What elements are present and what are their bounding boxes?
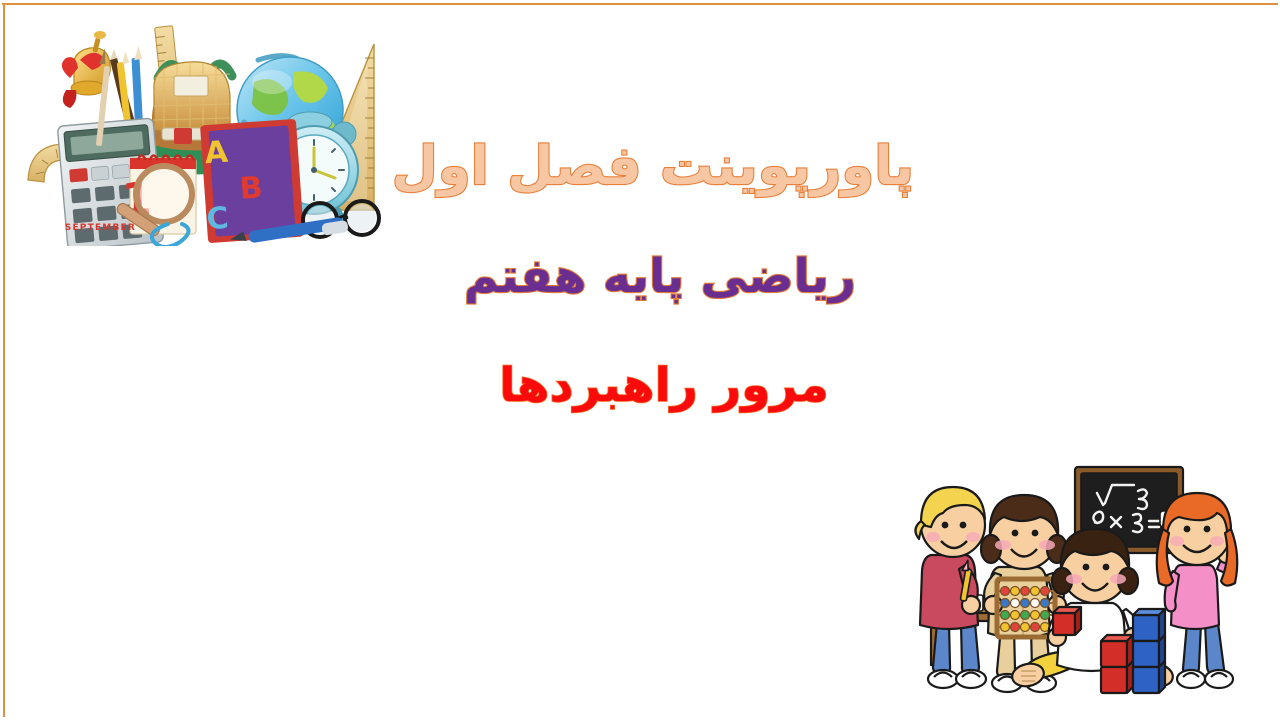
school-supplies-clipart: A B C (22, 18, 392, 246)
abc-book-icon: A B C (200, 119, 304, 243)
page-title-line-2: ریاضی پایه هفتم (400, 253, 920, 300)
child-boy-blond (915, 487, 986, 688)
slide-border-top (2, 3, 1278, 5)
page-title-line-3: مرور راهبردها (400, 362, 928, 409)
red-block-icon (1053, 607, 1081, 635)
child-girl-orange-hair (1157, 493, 1238, 688)
calendar-month: SEPTEMBER (65, 223, 136, 233)
slide-title-block: پاورپوینت فصل اول ریاضی پایه هفتم مرور ر… (400, 140, 920, 409)
svg-text:B: B (238, 170, 263, 207)
svg-text:C: C (205, 201, 229, 237)
classroom-kids-clipart (905, 445, 1260, 700)
page-title-line-1: پاورپوینت فصل اول (400, 140, 914, 193)
slide-canvas: A B C (0, 0, 1280, 720)
svg-text:A: A (204, 135, 230, 172)
slide-border-left (3, 3, 5, 717)
